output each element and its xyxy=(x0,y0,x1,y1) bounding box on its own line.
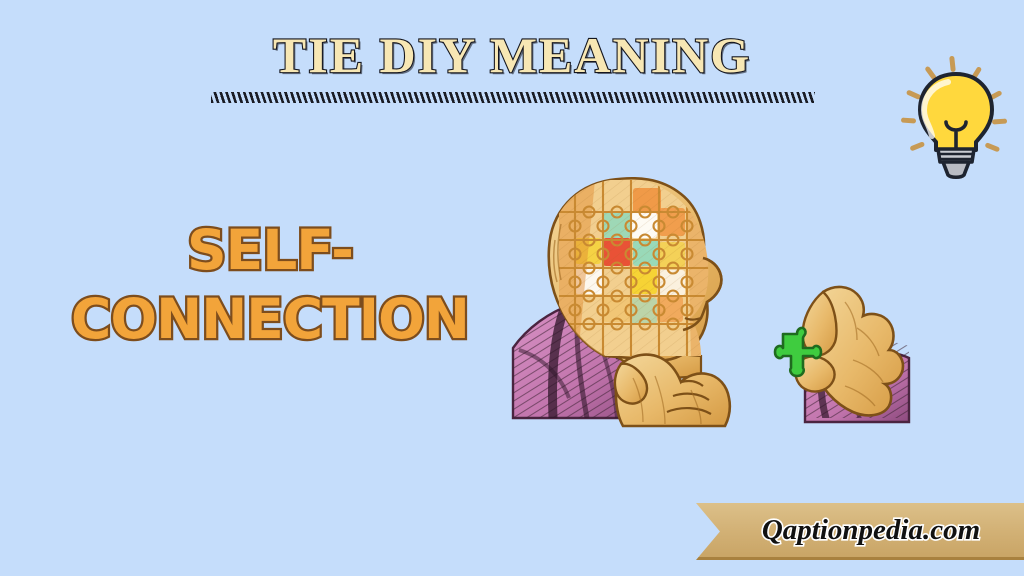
poster-canvas: TIE DIY MEANING SELF- CONNECTION xyxy=(0,0,1024,576)
site-name-label: Qaptionpedia.com xyxy=(740,514,980,547)
headline-text: SELF- CONNECTION xyxy=(40,216,500,355)
headline-line-2: CONNECTION xyxy=(40,285,500,354)
site-watermark-ribbon[interactable]: Qaptionpedia.com xyxy=(696,503,1024,560)
page-title: TIE DIY MEANING xyxy=(0,30,1024,80)
dashed-divider xyxy=(211,92,815,103)
man-with-puzzle-head-illustration xyxy=(505,150,925,430)
headline-line-1: SELF- xyxy=(40,216,500,285)
